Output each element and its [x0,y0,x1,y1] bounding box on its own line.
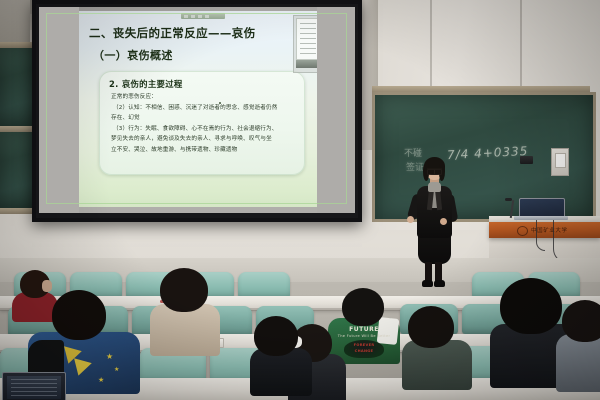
student-foreground-right-2 [556,300,600,400]
student-torso [556,334,600,392]
slide-body-line: 梦见失去的亲人，避免谈及失去的亲人、寻求与呼唤、叹气与坐 [111,137,272,143]
presenter-shoe-right [434,280,445,287]
slide-bullet-dot [219,102,221,104]
student-head [562,300,600,342]
slide-toolbar-overlay[interactable] [181,13,225,19]
screen-letterbox-right [317,7,355,213]
wall-socket[interactable] [551,148,569,176]
lightning-bolt-graphic [66,344,100,374]
jacket-patch: FOREVER CHANGE [344,340,384,358]
slide-card-heading: 2. 哀伤的主要过程 [109,78,183,90]
microphone-icon[interactable] [505,198,512,201]
projection-screen: 二、丧失后的正常反应——哀伤 （一）哀伤概述 2. 哀伤的主要过程 正常的悲伤反… [32,0,362,222]
chalkboard-frame [0,42,36,48]
seat[interactable] [238,272,290,298]
chalkboard-left-lower [0,132,36,208]
chalkboard-frame [0,208,36,214]
university-seal-icon [517,226,528,236]
student-head [500,278,562,334]
slide-body-line: （2）认知：不相信、困惑、沉迷了对逝者的思念、感觉逝者仍然 [113,106,278,112]
presenter-skirt [418,234,451,264]
star-graphic: ★ [106,352,113,361]
jacket-patch-bottom-text: CHANGE [344,349,384,353]
student-head [408,306,454,348]
presenter-hand-right [440,218,447,225]
side-door-panel [0,0,30,48]
student-head [52,290,106,340]
star-graphic: ★ [114,366,119,373]
cable [553,220,568,263]
chalkboard-left-upper [0,48,36,126]
student-foreground-left [250,316,314,400]
presenter-hand-left [407,216,414,223]
presenter [404,160,464,295]
student-masked [402,306,474,392]
slide-body-line: 立不安、哭泣、故地重游、与携带遗物、珍藏遗物 [111,148,237,154]
student-laptop[interactable] [2,372,66,400]
slide-body-card: 2. 哀伤的主要过程 正常的悲伤反应： （2）认知：不相信、困惑、沉迷了对逝者的… [99,71,305,175]
jacket-patch-top-text: FOREVER [344,343,384,347]
slide-body-line: 存在、幻觉 [111,116,140,122]
student-laptop-screen [7,376,61,399]
overlay-taskbar[interactable] [296,60,318,68]
glasses-icon [427,168,442,173]
screen-letterbox-left [39,7,79,213]
student-beige-sweater [150,268,222,360]
slide-content: 二、丧失后的正常反应——哀伤 （一）哀伤概述 2. 哀伤的主要过程 正常的悲伤反… [77,11,325,207]
presenter-scarf [428,182,441,192]
lecture-hall-photo: 不碰 签证 7/4 4+0335 二、丧失后的正常反应——哀伤 （一）哀伤概述 … [0,0,600,400]
slide-body-line: 正常的悲伤反应： [111,95,157,101]
board-eraser [520,156,533,164]
slide-title: 二、丧失后的正常反应——哀伤 [89,25,256,41]
slide-subtitle: （一）哀伤概述 [93,47,173,63]
cable [536,220,545,251]
screen-surface: 二、丧失后的正常反应——哀伤 （一）哀伤概述 2. 哀伤的主要过程 正常的悲伤反… [39,7,355,213]
chalkboard-frame [0,126,36,132]
presenter-shoe-left [422,280,433,287]
slide-body-line: （3）行为：失眠、食欲障碍、心不在焉的行为、社会退缩行为、 [113,127,278,133]
student-head [254,316,298,356]
star-graphic: ★ [98,376,104,384]
student-head [160,268,208,312]
student-head [342,288,384,326]
